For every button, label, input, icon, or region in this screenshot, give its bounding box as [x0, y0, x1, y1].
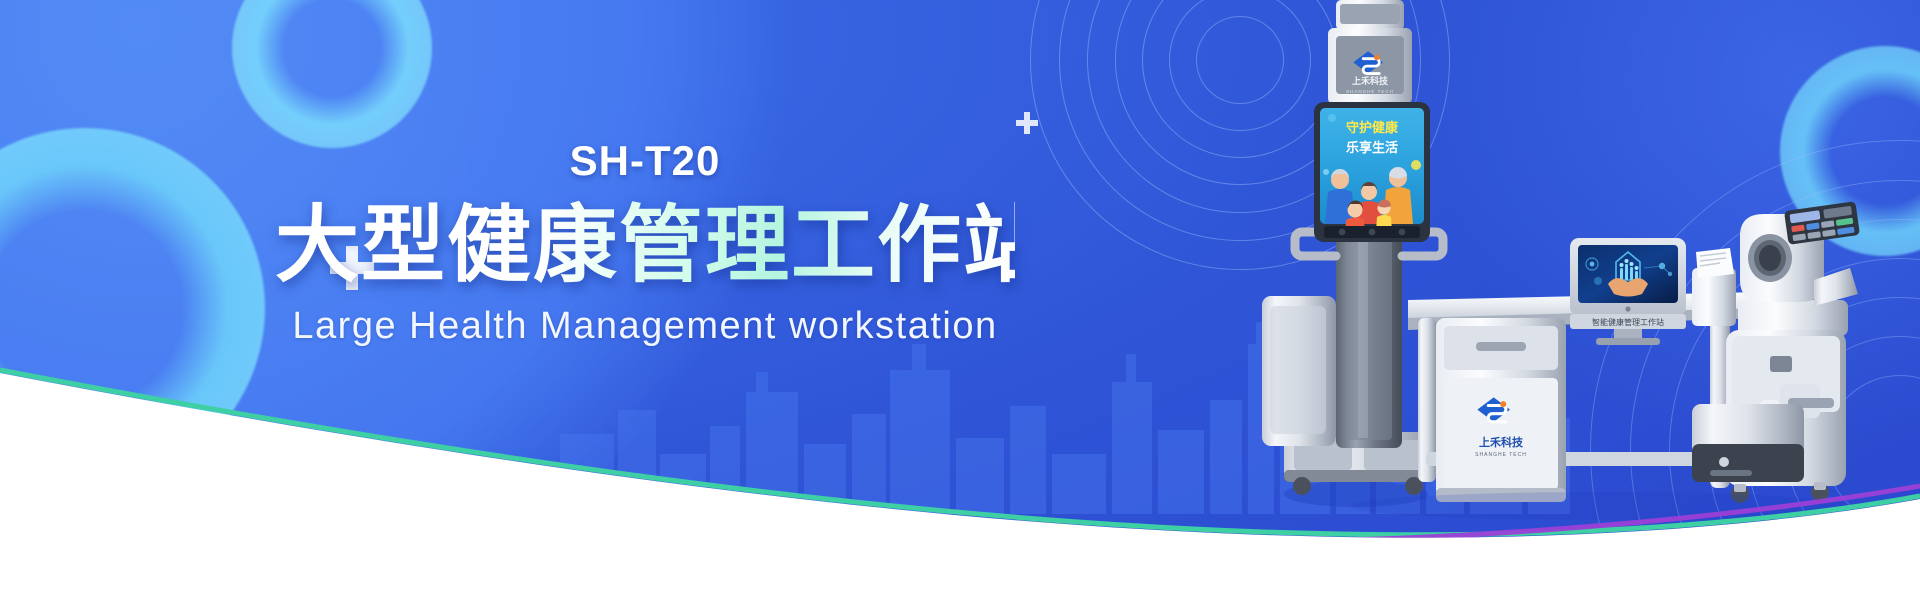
medical-cross-small-icon	[1016, 112, 1038, 134]
hero-copy-block: SH-T20 大型健康管理工作站 Large Health Management…	[275, 140, 1015, 348]
svg-text:SHANGHE TECH: SHANGHE TECH	[1346, 89, 1394, 94]
page-subtitle: Large Health Management workstation	[275, 305, 1015, 348]
receipt-paper	[1696, 248, 1734, 278]
product-hero-banner: 上禾科技 SHANGHE TECH 守护健康 乐享生活	[0, 0, 1920, 600]
bottom-wave-divider	[0, 310, 1920, 600]
kiosk-screen-headline-1: 守护健康	[1346, 120, 1399, 135]
page-title: 大型健康管理工作站	[275, 200, 1015, 291]
svg-text:上禾科技: 上禾科技	[1352, 75, 1389, 86]
kiosk-screen-headline-2: 乐享生活	[1346, 140, 1398, 155]
bp-keypad	[1784, 201, 1860, 245]
model-code: SH-T20	[275, 140, 1015, 182]
